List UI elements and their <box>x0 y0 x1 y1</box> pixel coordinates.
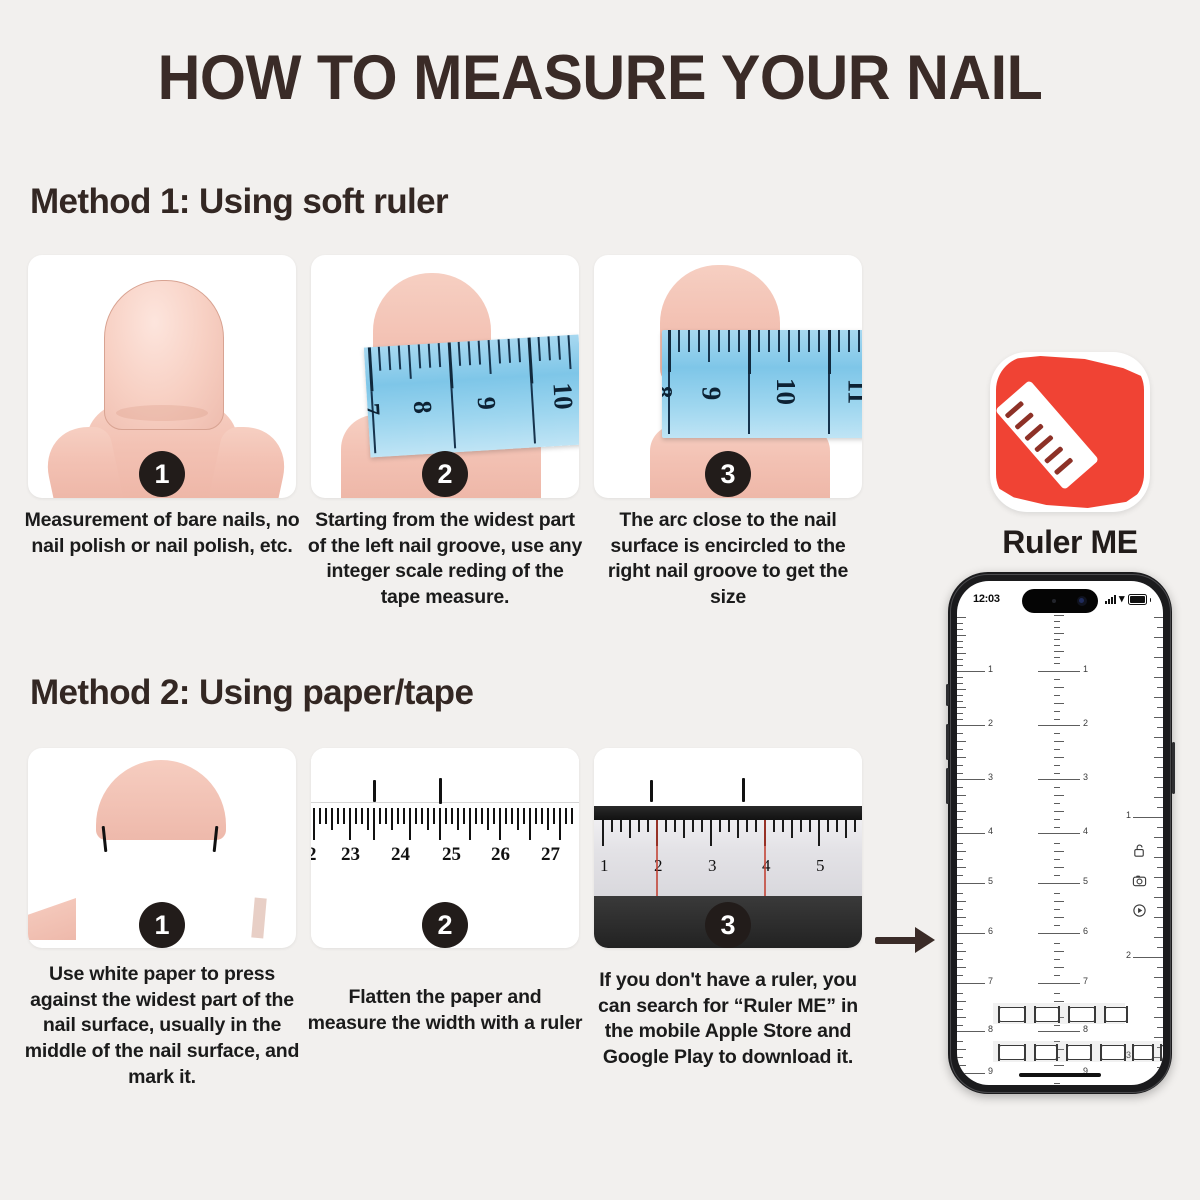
ruler-number: 24 <box>391 844 410 866</box>
ruler-label: 5 <box>1083 876 1088 886</box>
ruler-number: 27 <box>541 844 560 866</box>
ruler-label: 5 <box>988 876 993 886</box>
step-badge: 3 <box>705 902 751 948</box>
ruler-number: 25 <box>442 844 461 866</box>
method2-step3-caption: If you don't have a ruler, you can searc… <box>590 968 866 1071</box>
ruler-number: 2 <box>311 844 317 866</box>
phone-mockup: 12:03 ▾ <box>948 572 1172 1094</box>
ruler-label: 3 <box>988 772 993 782</box>
ruler-label: 6 <box>988 926 993 936</box>
step-badge: 3 <box>705 451 751 497</box>
camera-icon[interactable] <box>1132 873 1147 888</box>
ruler-number: 3 <box>708 856 717 876</box>
ruler-label: 9 <box>988 1066 993 1076</box>
cellular-signal-icon <box>1105 595 1116 604</box>
step-badge: 1 <box>139 451 185 497</box>
phone-power-button[interactable] <box>1172 742 1175 794</box>
ruler-label: 1 <box>1083 664 1088 674</box>
ruler-label: 2 <box>988 718 993 728</box>
method1-step1-card: 1 <box>28 255 296 498</box>
ruler-label: 7 <box>1083 976 1088 986</box>
phone-volume-up-button[interactable] <box>946 724 949 760</box>
tape-number: 7 <box>364 402 384 416</box>
step-badge: 1 <box>139 902 185 948</box>
tape-number: 10 <box>546 382 579 411</box>
status-clock: 12:03 <box>973 593 1000 605</box>
ruler-label: 2 <box>1083 718 1088 728</box>
tape-number: 11 <box>841 379 862 405</box>
tape-number: 8 <box>662 386 676 399</box>
home-indicator[interactable] <box>1019 1073 1101 1077</box>
ruler-number: 5 <box>816 856 825 876</box>
tape-number: 10 <box>770 378 801 405</box>
app-name-label: Ruler ME <box>950 524 1190 561</box>
tape-number: 8 <box>407 400 438 415</box>
method2-step1-card: 1 <box>28 748 296 948</box>
method-1-heading: Method 1: Using soft ruler <box>30 182 448 222</box>
method1-step2-card: 7 8 9 10 2 <box>311 255 579 498</box>
ruler-number: 23 <box>341 844 360 866</box>
infographic-page: HOW TO MEASURE YOUR NAIL Method 1: Using… <box>0 0 1200 1200</box>
ruler-number: 26 <box>491 844 510 866</box>
ruler-label: 1 <box>1126 810 1131 820</box>
ruler-label: 2 <box>1126 950 1131 960</box>
status-bar: 12:03 ▾ <box>957 589 1163 613</box>
battery-icon <box>1128 594 1147 605</box>
ruler-label: 7 <box>988 976 993 986</box>
ruler-number: 1 <box>600 856 609 876</box>
method1-step2-caption: Starting from the widest part of the lef… <box>307 508 583 611</box>
method2-step2-caption: Flatten the paper and measure the width … <box>307 985 583 1036</box>
phone-mute-button[interactable] <box>946 684 949 706</box>
unlock-icon[interactable] <box>1132 843 1147 858</box>
play-icon[interactable] <box>1132 903 1147 918</box>
method2-step1-caption: Use white paper to press against the wid… <box>24 962 300 1091</box>
phone-screen[interactable]: 12:03 ▾ <box>957 581 1163 1085</box>
method1-step3-caption: The arc close to the nail surface is enc… <box>590 508 866 611</box>
method1-step1-caption: Measurement of bare nails, no nail polis… <box>24 508 300 559</box>
step-badge: 2 <box>422 451 468 497</box>
step-badge: 2 <box>422 902 468 948</box>
page-title: HOW TO MEASURE YOUR NAIL <box>36 42 1164 114</box>
ruler-label: 4 <box>988 826 993 836</box>
right-arrow-icon <box>875 925 945 955</box>
ruler-label: 3 <box>1083 772 1088 782</box>
tape-number: 9 <box>471 396 502 411</box>
method2-step3-card: 1 2 3 4 5 3 <box>594 748 862 948</box>
wifi-icon: ▾ <box>1119 595 1125 604</box>
ruler-label: 8 <box>988 1024 993 1034</box>
ruler-label: 8 <box>1083 1024 1088 1034</box>
ruler-app-icon[interactable] <box>990 352 1150 512</box>
ruler-canvas[interactable]: 1 2 <box>957 611 1163 1085</box>
phone-volume-down-button[interactable] <box>946 768 949 804</box>
method-2-heading: Method 2: Using paper/tape <box>30 673 473 713</box>
method1-step3-card: 8 9 10 11 3 <box>594 255 862 498</box>
ruler-label: 4 <box>1083 826 1088 836</box>
ruler-label: 1 <box>988 664 993 674</box>
ruler-label: 6 <box>1083 926 1088 936</box>
method2-step2-card: 2 23 24 25 26 27 2 <box>311 748 579 948</box>
tape-number: 9 <box>695 387 726 401</box>
